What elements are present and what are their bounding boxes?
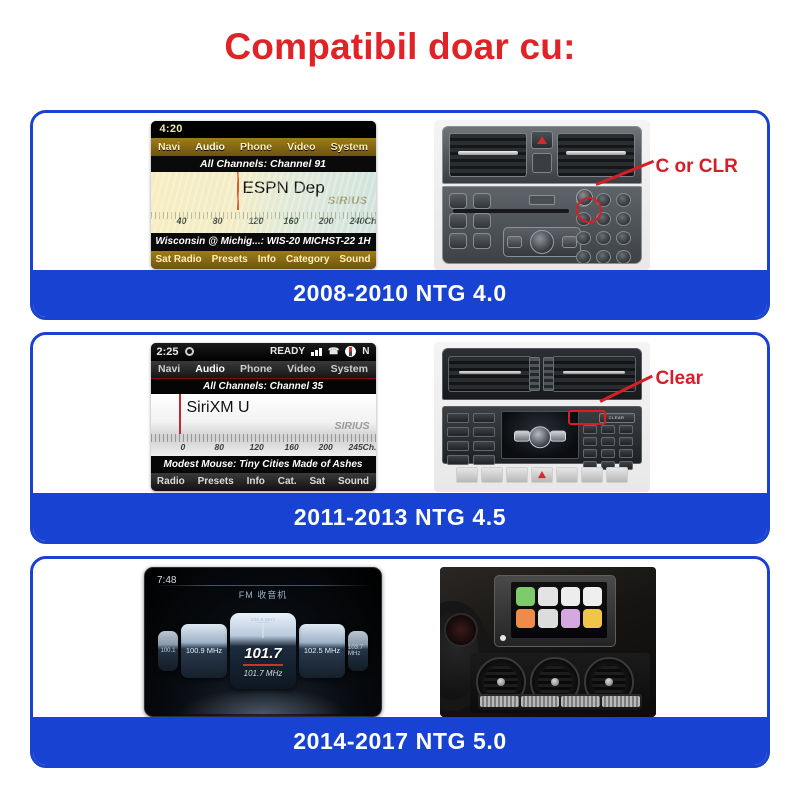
key-6[interactable] (619, 437, 633, 446)
ntg45-compass-heading: N (362, 346, 369, 357)
tick-label: 80 (215, 442, 224, 452)
climate-button[interactable] (480, 696, 519, 707)
sirius-watermark: SIRIUS (328, 195, 368, 207)
carplay-app-grid (516, 587, 602, 628)
back-button[interactable] (447, 455, 469, 465)
climate-button[interactable] (602, 696, 641, 707)
ntg45-tuner-area: SiriXM U SIRIUS 0 80 120 160 200 245Ch. (151, 394, 376, 456)
climate-button[interactable] (521, 696, 560, 707)
phone-icon: ☎ (328, 346, 339, 357)
ntg45-station-name: SiriXM U (187, 399, 250, 417)
ntg45-clock: 2:25 (157, 346, 179, 358)
rotary-knob[interactable] (530, 230, 554, 254)
ntg40-dashboard-photo (434, 120, 650, 270)
tick-label: 80 (213, 216, 223, 226)
sys-button[interactable] (473, 441, 495, 451)
head-unit-display (501, 411, 579, 459)
strip-button[interactable] (606, 467, 628, 483)
key-3[interactable] (616, 193, 631, 207)
tick-label: 120 (250, 442, 264, 452)
strip-button[interactable] (506, 467, 528, 483)
air-vent-right (557, 133, 635, 177)
signal-bars-icon (311, 348, 322, 356)
menu-item-audio[interactable]: Audio (195, 363, 225, 375)
dash-inner (442, 126, 642, 264)
hazard-light-button[interactable] (531, 131, 553, 149)
next-track-button[interactable] (550, 430, 566, 441)
menu-item-system[interactable]: System (331, 141, 368, 153)
infotainment-display (494, 575, 616, 647)
preset-card-left[interactable]: 100.9 MHz (181, 624, 227, 678)
ntg50-dashboard-panel (440, 567, 656, 717)
callout-label-clear: Clear (656, 368, 704, 390)
strip-button[interactable] (456, 467, 478, 483)
bottom-item-info[interactable]: Info (247, 476, 265, 487)
bottom-item-cat[interactable]: Cat. (278, 476, 297, 487)
ntg40-tick-scale: 40 80 120 160 200 240Ch. (151, 210, 376, 232)
ntg45-status-bar: 2:25 READY ☎ N (151, 343, 376, 361)
key-6[interactable] (616, 212, 631, 226)
tuner-cursor (179, 394, 181, 434)
card-banner-ntg45: 2011-2013 NTG 4.5 (33, 493, 767, 541)
compatibility-card-ntg40: 4:20 Navi Audio Phone Video System All C… (30, 110, 770, 320)
strip-button[interactable] (481, 467, 503, 483)
key-9[interactable] (619, 449, 633, 458)
screen-glow (178, 688, 348, 714)
app-icon-audiobooks[interactable] (561, 609, 580, 628)
rotary-knob[interactable] (529, 426, 551, 448)
left-button-group (447, 411, 497, 459)
home-button-icon[interactable] (500, 635, 506, 641)
key-hash[interactable] (616, 250, 631, 264)
ntg45-tick-scale: 0 80 120 160 200 245Ch. (151, 442, 376, 455)
vent-chrome-trim (458, 151, 518, 155)
compatibility-card-ntg50: 7:48 FM 收音机 100.1 100.9 MHz 100.9 MHz 10… (30, 556, 770, 768)
app-icon-settings[interactable] (538, 609, 557, 628)
page-title: Compatibil doar cu: (0, 26, 800, 68)
esp-button[interactable] (532, 153, 552, 173)
prev-track-button[interactable] (507, 236, 522, 248)
ntg40-bottom-menu: Sat Radio Presets Info Category Sound (151, 251, 376, 269)
vent-chrome-trim (566, 151, 626, 155)
disc-icon (185, 347, 194, 356)
bottom-item-info[interactable]: Info (258, 254, 276, 265)
app-icon-phone[interactable] (516, 587, 535, 606)
radio-button[interactable] (447, 413, 469, 423)
key-9[interactable] (616, 231, 631, 245)
ntg40-tuner-area: ESPN Dep SIRIUS 40 80 120 160 200 240Ch. (151, 172, 376, 233)
ntg45-bottom-menu: Radio Presets Info Cat. Sat Sound (151, 473, 376, 491)
ntg45-dashboard-photo: CLEAR (434, 342, 650, 492)
ntg40-top-menu: Navi Audio Phone Video System (151, 138, 376, 156)
tick-label: 120 (249, 216, 264, 226)
key-3[interactable] (619, 425, 633, 434)
bottom-item-sound[interactable]: Sound (339, 254, 370, 265)
tuner-needle-icon (263, 622, 264, 638)
bottom-item-sat-radio[interactable]: Sat Radio (155, 254, 201, 265)
ntg50-radio-screen: 7:48 FM 收音机 100.1 100.9 MHz 100.9 MHz 10… (144, 567, 382, 717)
ntg45-screen-panel: 2:25 READY ☎ N Navi Audio Phone Video (151, 343, 376, 491)
vent-chrome-trim (563, 371, 625, 374)
sirius-watermark: SIRIUS (334, 420, 369, 432)
aux-button[interactable] (449, 233, 467, 249)
menu-item-navi[interactable]: Navi (158, 363, 180, 375)
card-banner-ntg40: 2008-2010 NTG 4.0 (33, 270, 767, 317)
bottom-item-sat[interactable]: Sat (310, 476, 326, 487)
compatibility-card-ntg45: 2:25 READY ☎ N Navi Audio Phone Video (30, 332, 770, 544)
bottom-item-radio[interactable]: Radio (157, 476, 185, 487)
ntg40-channel-subtitle: All Channels: Channel 91 (151, 156, 376, 172)
app-icon-navigation[interactable] (583, 609, 602, 628)
tuner-band (151, 434, 376, 442)
ntg45-now-playing: Modest Mouse: Tiny Cities Made of Ashes (151, 456, 376, 473)
carplay-screen[interactable] (511, 582, 607, 638)
strip-button[interactable] (581, 467, 603, 483)
tel-button[interactable] (473, 213, 491, 229)
key-1[interactable] (583, 425, 597, 434)
tick-label: 0 (181, 442, 186, 452)
eject-button[interactable] (529, 195, 555, 205)
hazard-light-button[interactable] (531, 467, 553, 483)
air-vent-left (448, 356, 532, 392)
compass-icon (345, 346, 356, 357)
tick-label: 160 (284, 216, 299, 226)
menu-item-system[interactable]: System (331, 363, 368, 375)
menu-item-audio[interactable]: Audio (195, 141, 225, 153)
preset-carousel[interactable]: 100.1 100.9 MHz 100.9 MHz 101.7 101.7 MH… (145, 610, 381, 692)
preset-card-right[interactable]: 102.5 MHz (299, 624, 345, 678)
key-5[interactable] (601, 437, 615, 446)
tick-label: 245Ch. (349, 442, 376, 452)
ntg50-dashboard-photo (440, 567, 656, 717)
ntg40-head-unit-screen: 4:20 Navi Audio Phone Video System All C… (151, 121, 376, 269)
center-vent-controls[interactable] (528, 354, 556, 394)
preset-card-far-right[interactable]: 103.7 MHz (348, 631, 368, 671)
ntg40-clock: 4:20 (160, 123, 183, 135)
ntg40-dashboard-panel: C or CLR (434, 120, 650, 270)
menu-item-video[interactable]: Video (287, 141, 315, 153)
bottom-item-sound[interactable]: Sound (338, 476, 369, 487)
ntg45-channel-subtitle: All Channels: Channel 35 (151, 379, 376, 394)
tick-label: 200 (319, 442, 333, 452)
current-frequency: 101.7 (244, 645, 282, 662)
key-7[interactable] (583, 449, 597, 458)
menu-item-navi[interactable]: Navi (158, 141, 180, 153)
menu-item-phone[interactable]: Phone (240, 141, 272, 153)
sys-button[interactable] (473, 233, 491, 249)
disc-button[interactable] (473, 413, 495, 423)
instrument-gauge (444, 613, 478, 647)
card-body: 2:25 READY ☎ N Navi Audio Phone Video (33, 335, 767, 492)
app-icon-maps[interactable] (561, 587, 580, 606)
current-frequency-unit: 101.7 MHz (244, 669, 283, 678)
tuner-cursor (237, 172, 239, 210)
strip-button[interactable] (556, 467, 578, 483)
tick-label: 200 (319, 216, 334, 226)
left-button-group (449, 193, 493, 265)
ntg50-screen-panel: 7:48 FM 收音机 100.1 100.9 MHz 100.9 MHz 10… (144, 567, 382, 717)
menu-item-video[interactable]: Video (287, 363, 315, 375)
tick-label: 160 (285, 442, 299, 452)
ntg45-dashboard-panel: CLEAR (434, 342, 650, 492)
key-8[interactable] (596, 231, 611, 245)
control-knob-group[interactable] (503, 227, 581, 257)
card-body: 7:48 FM 收音机 100.1 100.9 MHz 100.9 MHz 10… (33, 559, 767, 718)
clear-key-highlight (568, 410, 606, 425)
call-button[interactable] (473, 455, 495, 465)
callout-label-c-or-clr: C or CLR (656, 156, 738, 178)
preset-card-far-left[interactable]: 100.1 (158, 631, 178, 671)
ntg50-source-title: FM 收音机 (145, 588, 381, 601)
head-unit-faceplate (442, 186, 642, 264)
bottom-item-presets[interactable]: Presets (198, 476, 234, 487)
disc-button[interactable] (473, 193, 491, 209)
tick-label: 240Ch. (350, 216, 376, 226)
preset-card-current[interactable]: 100.9 MHz 101.7 101.7 MHz (230, 613, 296, 689)
frequency-underline (243, 664, 283, 666)
ntg40-screen-panel: 4:20 Navi Audio Phone Video System All C… (151, 121, 376, 269)
vent-chrome-trim (459, 371, 521, 374)
header-divider (155, 585, 371, 586)
next-track-button[interactable] (562, 236, 577, 248)
tick-label: 40 (177, 216, 187, 226)
ntg45-head-unit-screen: 2:25 READY ☎ N Navi Audio Phone Video (151, 343, 376, 491)
prev-track-button[interactable] (514, 430, 530, 441)
climate-button[interactable] (561, 696, 600, 707)
ntg45-ready-text: READY (270, 346, 305, 357)
card-body: 4:20 Navi Audio Phone Video System All C… (33, 113, 767, 270)
ntg45-top-menu: Navi Audio Phone Video System (151, 361, 376, 379)
bottom-item-presets[interactable]: Presets (212, 254, 248, 265)
ntg40-now-playing: Wisconsin @ Michig...: WIS-20 MICHST-22 … (151, 233, 376, 251)
lower-button-strip (456, 466, 628, 484)
aux-button[interactable] (447, 441, 469, 451)
bottom-item-category[interactable]: Category (286, 254, 329, 265)
air-vent-assembly (442, 126, 642, 184)
air-vent-right (552, 356, 636, 392)
app-icon-music[interactable] (538, 587, 557, 606)
key-4[interactable] (583, 437, 597, 446)
menu-item-phone[interactable]: Phone (240, 363, 272, 375)
key-0[interactable] (596, 250, 611, 264)
air-vent-left (449, 133, 527, 177)
head-unit-faceplate: CLEAR (442, 406, 642, 464)
card-banner-ntg50: 2014-2017 NTG 5.0 (33, 717, 767, 765)
clr-button-highlight (576, 197, 602, 223)
nav-button[interactable] (447, 427, 469, 437)
ntg40-station-name: ESPN Dep (243, 178, 325, 198)
hazard-triangle-icon (537, 136, 547, 144)
radio-button[interactable] (449, 193, 467, 209)
nav-button[interactable] (449, 213, 467, 229)
key-7[interactable] (576, 231, 591, 245)
key-8[interactable] (601, 449, 615, 458)
tel-button[interactable] (473, 427, 495, 437)
app-icon-messages[interactable] (583, 587, 602, 606)
key-star[interactable] (576, 250, 591, 264)
app-icon-podcasts[interactable] (516, 609, 535, 628)
center-console (470, 653, 650, 713)
ntg40-status-bar: 4:20 (151, 121, 376, 138)
dash-inner: CLEAR (442, 348, 642, 486)
compatibility-infographic: Compatibil doar cu: 4:20 Navi Audio Phon… (0, 0, 800, 800)
climate-control-panel[interactable] (478, 694, 642, 710)
key-2[interactable] (601, 425, 615, 434)
air-vent-assembly (442, 348, 642, 400)
